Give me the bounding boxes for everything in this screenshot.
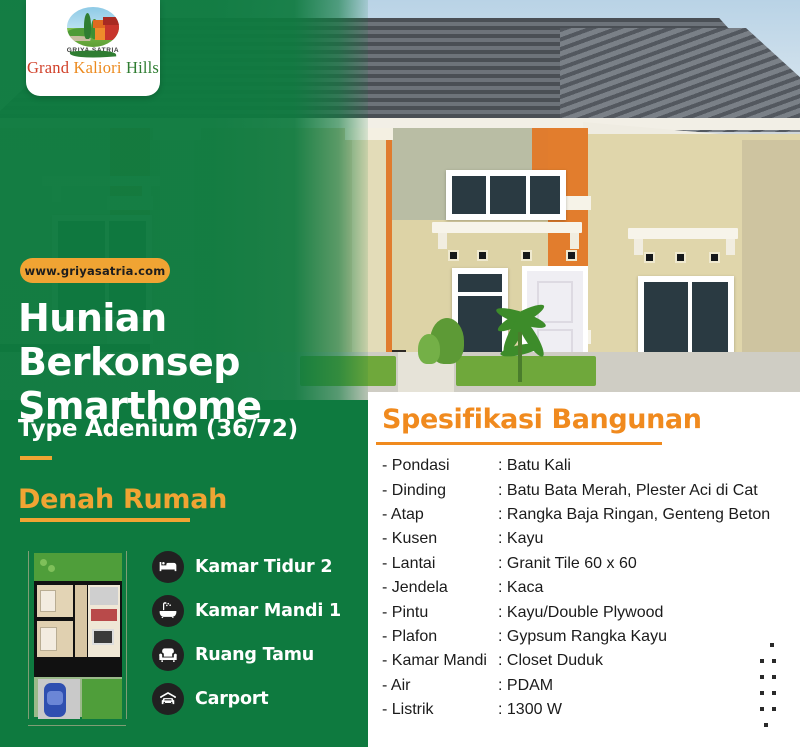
spec-row: - Kamar Mandi: Closet Duduk (382, 649, 794, 673)
specifications-title: Spesifikasi Bangunan (382, 404, 702, 435)
floorplan-bed (40, 590, 56, 612)
website-url: www.griyasatria.com (25, 264, 166, 278)
floorplan-hallway (75, 585, 87, 657)
feature-label: Carport (195, 689, 268, 709)
spec-value: : Closet Duduk (498, 652, 603, 670)
floorplan-plant (48, 565, 55, 572)
window-right (638, 276, 734, 364)
window-mullion (486, 176, 490, 214)
website-badge[interactable]: www.griyasatria.com (20, 258, 170, 283)
brand-name-part2: Kaliori (74, 58, 126, 77)
vent-block (675, 252, 686, 263)
floorplan-car (44, 683, 66, 717)
spec-value: : 1300 W (498, 701, 562, 719)
spec-label: - Kamar Mandi (382, 652, 498, 670)
vent-block (448, 250, 459, 261)
feature-item-bedroom[interactable]: Kamar Tidur 2 (152, 548, 362, 586)
spec-label: - Dinding (382, 482, 498, 500)
spec-row: - Atap: Rangka Baja Ringan, Genteng Beto… (382, 503, 794, 527)
corbel (726, 239, 735, 255)
spec-row: - Jendela: Kaca (382, 576, 794, 600)
dot-decoration (758, 643, 784, 735)
corbel (634, 239, 643, 255)
bathtub-icon (152, 595, 184, 627)
spec-row: - Plafon: Gypsum Rangka Kayu (382, 625, 794, 649)
spec-value: : Gypsum Rangka Kayu (498, 628, 667, 646)
porch-lintel (432, 222, 582, 233)
spec-label: - Air (382, 677, 498, 695)
brand-logo-card[interactable]: GRIYA SATRIA Grand Kaliori Hills (26, 0, 160, 96)
spec-label: - Listrik (382, 701, 498, 719)
spec-row: - Pintu: Kayu/Double Plywood (382, 600, 794, 624)
floorplan-dimension-line (28, 725, 126, 726)
spec-value: : Kayu/Double Plywood (498, 604, 663, 622)
specifications-underline (376, 442, 662, 445)
emblem-house-red (105, 23, 119, 40)
floorplan-kitchen (90, 587, 118, 605)
window-mullion (526, 176, 530, 214)
spec-row: - Kusen: Kayu (382, 527, 794, 551)
griya-satria-emblem-icon: GRIYA SATRIA (59, 7, 127, 51)
spec-label: - Plafon (382, 628, 498, 646)
feature-item-livingroom[interactable]: Ruang Tamu (152, 636, 362, 674)
floorplan-sofa (91, 609, 117, 621)
promo-poster: GRIYA SATRIA Grand Kaliori Hills www.gri… (0, 0, 800, 747)
armchair-icon (152, 639, 184, 671)
window-mullion (688, 282, 692, 358)
emblem-circle (67, 7, 119, 47)
vent-block (477, 250, 488, 261)
floorplan-tv (92, 629, 114, 645)
spec-label: - Kusen (382, 530, 498, 548)
floorplan-image[interactable] (20, 543, 138, 731)
emblem-tree (84, 13, 91, 39)
title-divider (20, 456, 52, 460)
headline-line-1: Hunian Berkonsep (18, 296, 240, 384)
spec-row: - Air: PDAM (382, 674, 794, 698)
vent-block (709, 252, 720, 263)
spec-row: - Listrik: 1300 W (382, 698, 794, 722)
window-center-top (446, 170, 566, 220)
feature-label: Ruang Tamu (195, 645, 314, 665)
corbel (438, 233, 447, 249)
floorplan-front-yard (82, 679, 122, 719)
palm-plant (476, 292, 566, 384)
spec-row: - Pondasi: Batu Kali (382, 454, 794, 478)
feature-item-bathroom[interactable]: Kamar Mandi 1 (152, 592, 362, 630)
bed-icon (152, 551, 184, 583)
brand-name-part1: Grand (27, 58, 74, 77)
page-title: Hunian Berkonsep Smarthome (18, 296, 370, 428)
vent-block (521, 250, 532, 261)
spec-label: - Lantai (382, 555, 498, 573)
spec-value: : Kaca (498, 579, 543, 597)
floorplan-bedroom-1 (37, 585, 73, 617)
floorplan-bed (40, 627, 57, 651)
specifications-panel: Spesifikasi Bangunan - Pondasi: Batu Kal… (368, 392, 800, 747)
spec-label: - Pintu (382, 604, 498, 622)
spec-label: - Jendela (382, 579, 498, 597)
spec-row: - Lantai: Granit Tile 60 x 60 (382, 552, 794, 576)
corbel (570, 233, 579, 249)
floorplan-heading-underline (20, 518, 190, 522)
feature-label: Kamar Mandi 1 (195, 601, 341, 621)
spec-value: : Rangka Baja Ringan, Genteng Beton (498, 506, 770, 524)
house-type-subtitle: Type Adenium (36/72) (18, 416, 298, 442)
feature-item-carport[interactable]: Carport (152, 680, 362, 718)
feature-label: Kamar Tidur 2 (195, 557, 332, 577)
vent-block (566, 250, 577, 261)
spec-value: : PDAM (498, 677, 553, 695)
floorplan-heading: Denah Rumah (18, 484, 227, 515)
specifications-list: - Pondasi: Batu Kali- Dinding: Batu Bata… (382, 454, 794, 722)
brand-name: Grand Kaliori Hills (26, 58, 160, 78)
spec-value: : Kayu (498, 530, 543, 548)
spec-value: : Batu Kali (498, 457, 571, 475)
spec-label: - Pondasi (382, 457, 498, 475)
floorplan-bedroom-2 (37, 621, 73, 657)
floorplan-dimension-line (126, 551, 127, 719)
shrub (418, 334, 440, 364)
spec-value: : Batu Bata Merah, Plester Aci di Cat (498, 482, 758, 500)
spec-label: - Atap (382, 506, 498, 524)
brand-name-part3: Hills (126, 58, 159, 77)
spec-value: : Granit Tile 60 x 60 (498, 555, 637, 573)
vent-block (644, 252, 655, 263)
carport-icon (152, 683, 184, 715)
floorplan-plant (40, 559, 47, 566)
window-lintel-right (628, 228, 738, 239)
floorplan-dimension-line (28, 551, 29, 719)
spec-row: - Dinding: Batu Bata Merah, Plester Aci … (382, 478, 794, 502)
